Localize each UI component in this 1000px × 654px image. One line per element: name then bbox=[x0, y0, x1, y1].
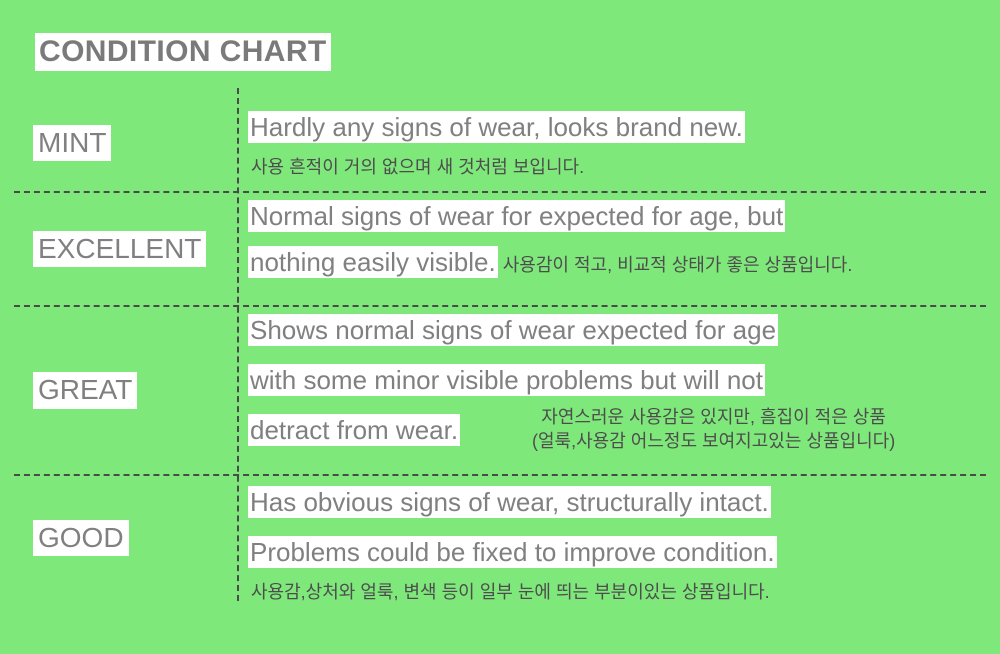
english-text: Hardly any signs of wear, looks brand ne… bbox=[248, 111, 745, 143]
description-cell-mint: Hardly any signs of wear, looks brand ne… bbox=[237, 95, 1000, 191]
table-row-great: GREAT Shows normal signs of wear expecte… bbox=[0, 307, 1000, 474]
grade-label-mint: MINT bbox=[33, 125, 111, 162]
description-line: Problems could be fixed to improve condi… bbox=[248, 534, 1000, 571]
english-text: with some minor visible problems but wil… bbox=[248, 364, 765, 396]
grade-cell-excellent: EXCELLENT bbox=[0, 193, 237, 305]
english-text: nothing easily visible. bbox=[248, 246, 498, 278]
korean-note-great: 자연스러운 사용감은 있지만, 흠집이 적은 상품 (얼룩,사용감 어느정도 보… bbox=[532, 406, 895, 454]
description-line: Shows normal signs of wear expected for … bbox=[248, 312, 1000, 349]
table-row-good: GOOD Has obvious signs of wear, structur… bbox=[0, 476, 1000, 600]
english-text: Normal signs of wear for expected for ag… bbox=[248, 200, 785, 232]
korean-text: 사용감,상처와 얼룩, 변색 등이 일부 눈에 띄는 부분이있는 상품입니다. bbox=[251, 582, 770, 602]
english-text: detract from wear. bbox=[248, 414, 460, 446]
korean-text: 사용 흔적이 거의 없으며 새 것처럼 보입니다. bbox=[251, 157, 584, 177]
description-line: with some minor visible problems but wil… bbox=[248, 362, 1000, 399]
page-title-wrap: CONDITION CHART bbox=[35, 33, 331, 71]
grade-cell-mint: MINT bbox=[0, 95, 237, 191]
korean-text: 자연스러운 사용감은 있지만, 흠집이 적은 상품 bbox=[532, 406, 895, 430]
description-cell-great: Shows normal signs of wear expected for … bbox=[237, 307, 1000, 474]
description-line: Has obvious signs of wear, structurally … bbox=[248, 484, 1000, 521]
english-text: Has obvious signs of wear, structurally … bbox=[248, 486, 771, 518]
description-line: 사용 흔적이 거의 없으며 새 것처럼 보입니다. bbox=[248, 155, 1000, 181]
description-cell-excellent: Normal signs of wear for expected for ag… bbox=[237, 193, 1000, 305]
grade-cell-great: GREAT bbox=[0, 307, 237, 474]
table-row-mint: MINT Hardly any signs of wear, looks bra… bbox=[0, 95, 1000, 191]
description-cell-good: Has obvious signs of wear, structurally … bbox=[237, 476, 1000, 600]
english-text: Shows normal signs of wear expected for … bbox=[248, 314, 778, 346]
table-row-excellent: EXCELLENT Normal signs of wear for expec… bbox=[0, 193, 1000, 305]
description-line: nothing easily visible.사용감이 적고, 비교적 상태가 … bbox=[248, 244, 1000, 281]
korean-text: 사용감이 적고, 비교적 상태가 좋은 상품입니다. bbox=[498, 255, 853, 275]
grade-cell-good: GOOD bbox=[0, 476, 237, 600]
grade-label-excellent: EXCELLENT bbox=[33, 231, 206, 268]
description-line: Hardly any signs of wear, looks brand ne… bbox=[248, 109, 1000, 146]
english-text: Problems could be fixed to improve condi… bbox=[248, 536, 777, 568]
grade-label-good: GOOD bbox=[33, 520, 129, 557]
korean-text: (얼룩,사용감 어느정도 보여지고있는 상품입니다) bbox=[532, 430, 895, 454]
description-line: 사용감,상처와 얼룩, 변색 등이 일부 눈에 띄는 부분이있는 상품입니다. bbox=[248, 580, 1000, 606]
condition-chart: CONDITION CHART MINT Hardly any signs of… bbox=[0, 0, 1000, 654]
description-line: Normal signs of wear for expected for ag… bbox=[248, 198, 1000, 235]
page-title: CONDITION CHART bbox=[35, 33, 331, 71]
grade-label-great: GREAT bbox=[33, 372, 137, 409]
